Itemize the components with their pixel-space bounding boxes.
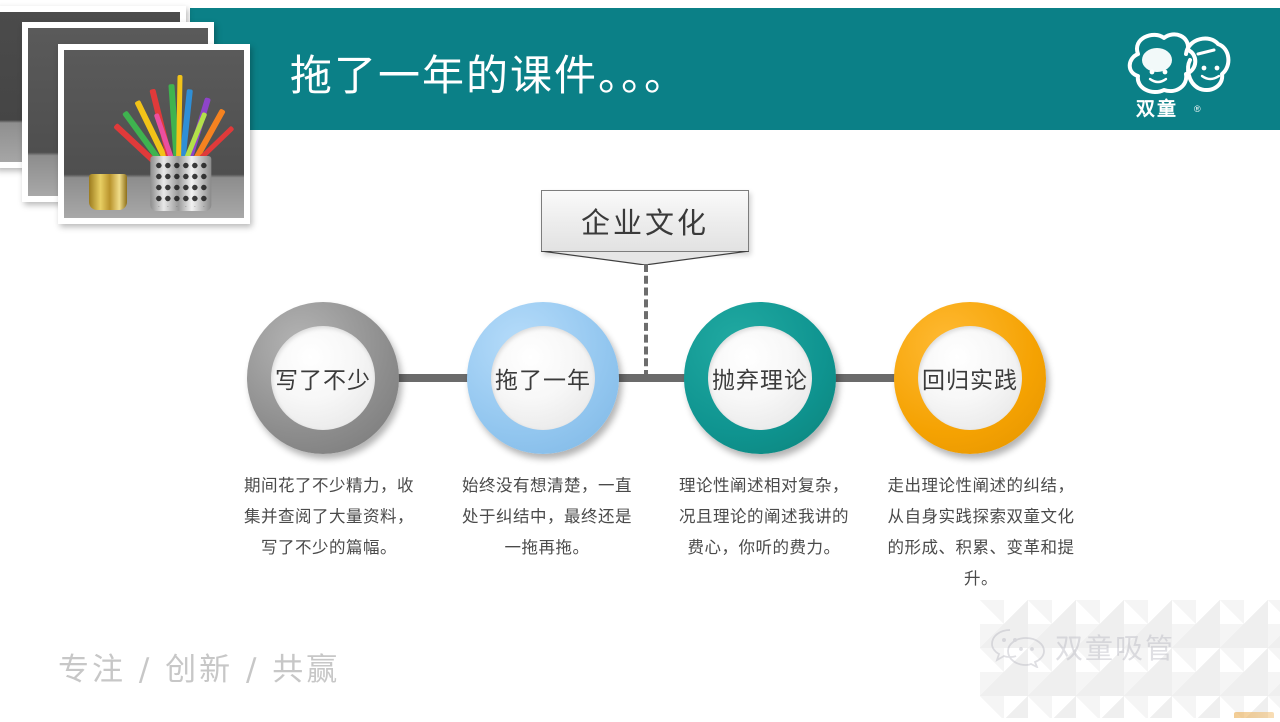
node-label-3: 抛弃理论	[684, 302, 836, 454]
node-label-2: 拖了一年	[467, 302, 619, 454]
callout-box: 企业文化	[541, 190, 749, 252]
metal-cup	[150, 156, 211, 211]
timeline-node-4[interactable]: 回归实践	[894, 302, 1046, 454]
watermark-text: 双童吸管	[1055, 627, 1175, 667]
wechat-icon	[990, 626, 1046, 668]
slide-canvas: 拖了一年的课件。。。 双童 ®	[0, 0, 1280, 722]
bottom-edge	[0, 718, 1280, 722]
timeline-node-2[interactable]: 拖了一年	[467, 302, 619, 454]
node-caption-4: 走出理论性阐述的纠结，从自身实践探索双童文化的形成、积累、变革和提升。	[886, 470, 1076, 594]
callout-tail	[541, 251, 749, 265]
node-caption-3: 理论性阐述相对复杂，况且理论的阐述我讲的费心，你听的费力。	[676, 470, 852, 563]
watermark: 双童吸管	[980, 600, 1280, 722]
page-title: 拖了一年的课件。。。	[290, 42, 688, 103]
timeline-node-1[interactable]: 写了不少	[247, 302, 399, 454]
node-label-1: 写了不少	[247, 302, 399, 454]
shuangtong-logo: 双童 ®	[1102, 24, 1242, 124]
logo-brand-text: 双童	[1136, 94, 1178, 121]
callout-label: 企业文化	[542, 191, 748, 251]
node-caption-1: 期间花了不少精力，收集并查阅了大量资料，写了不少的篇幅。	[241, 470, 417, 563]
logo-registered-mark: ®	[1194, 104, 1201, 114]
timeline-node-3[interactable]: 抛弃理论	[684, 302, 836, 454]
photo-front-image	[64, 50, 244, 218]
gold-glass	[89, 174, 127, 209]
photo-frame-front	[58, 44, 250, 224]
node-caption-2: 始终没有想清楚，一直处于纠结中，最终还是一拖再拖。	[459, 470, 635, 563]
footer-slogan: 专注 / 创新 / 共赢	[58, 644, 340, 689]
header-bar: 拖了一年的课件。。。 双童 ®	[190, 8, 1280, 130]
node-label-4: 回归实践	[894, 302, 1046, 454]
callout-connector-dashed-line	[644, 264, 648, 378]
timeline-connector-line	[300, 374, 980, 382]
